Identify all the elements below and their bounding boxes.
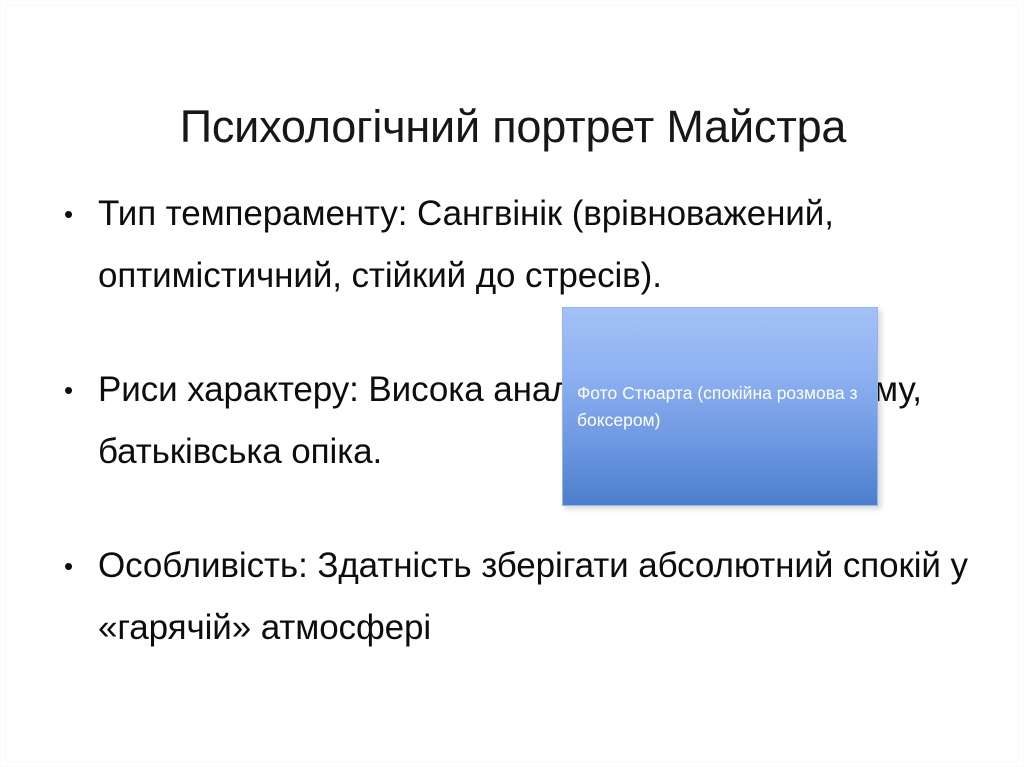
photo-placeholder: Фото Стюарта (спокійна розмова з боксеро… (562, 307, 878, 506)
bullet-point-icon: • (64, 535, 84, 597)
bullet-point-icon: • (64, 183, 84, 245)
list-item-text: Особливість: Здатність зберігати абсолют… (98, 535, 970, 659)
list-item-text: Тип темпераменту: Сангвінік (врівноважен… (98, 183, 970, 307)
presentation-slide: Психологічний портрет Майстра • Тип темп… (0, 0, 1024, 767)
photo-placeholder-caption: Фото Стюарта (спокійна розмова з боксеро… (563, 380, 877, 434)
list-item: • Особливість: Здатність зберігати абсол… (56, 535, 970, 659)
page-title: Психологічний портрет Майстра (61, 91, 965, 163)
bullet-point-icon: • (64, 359, 84, 421)
list-item: • Тип темпераменту: Сангвінік (врівноваж… (56, 183, 970, 307)
